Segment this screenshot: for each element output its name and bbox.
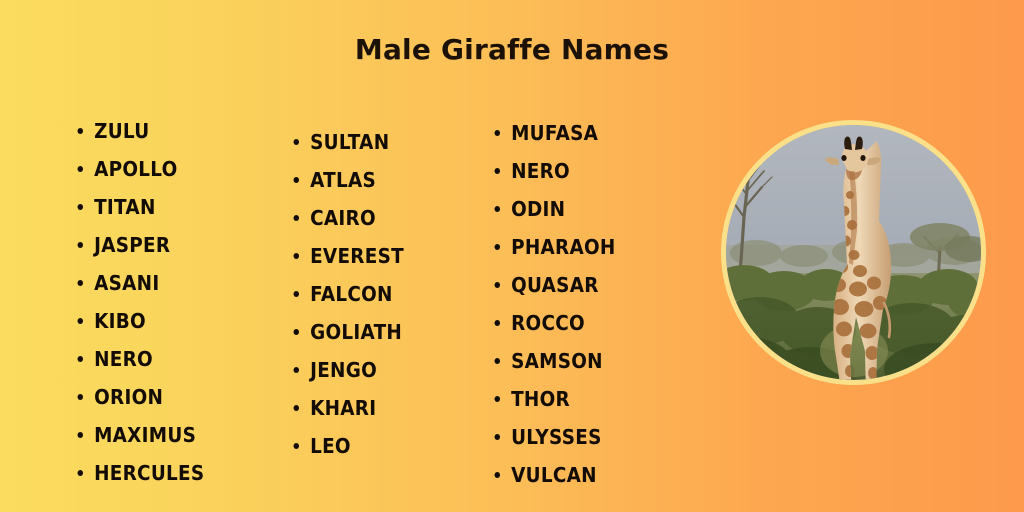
- name-label: QUASAR: [511, 273, 599, 297]
- name-label: ATLAS: [310, 168, 376, 192]
- list-item: ATLAS: [288, 161, 404, 199]
- bullet-icon: [495, 130, 501, 136]
- bullet-icon: [294, 291, 300, 297]
- name-label: KHARI: [310, 396, 376, 420]
- list-item: JASPER: [72, 226, 204, 264]
- name-label: CAIRO: [310, 206, 376, 230]
- name-label: ULYSSES: [511, 425, 602, 449]
- name-label: ASANI: [94, 271, 159, 295]
- name-label: EVEREST: [310, 244, 404, 268]
- list-item: ZULU: [72, 112, 204, 150]
- bullet-icon: [78, 242, 84, 248]
- name-label: GOLIATH: [310, 320, 402, 344]
- giraffe-photo-inner: [726, 125, 981, 380]
- name-label: ORION: [94, 385, 163, 409]
- bullet-icon: [78, 394, 84, 400]
- bullet-icon: [495, 472, 501, 478]
- list-item: ROCCO: [489, 304, 616, 342]
- name-label: THOR: [511, 387, 570, 411]
- list-item: APOLLO: [72, 150, 204, 188]
- list-item: PHARAOH: [489, 228, 616, 266]
- name-label: LEO: [310, 434, 351, 458]
- bullet-icon: [294, 405, 300, 411]
- list-item: ODIN: [489, 190, 616, 228]
- list-item: MUFASA: [489, 114, 616, 152]
- bullet-icon: [78, 204, 84, 210]
- name-label: NERO: [94, 347, 153, 371]
- bullet-icon: [78, 280, 84, 286]
- name-label: SULTAN: [310, 130, 389, 154]
- list-item: QUASAR: [489, 266, 616, 304]
- name-label: ODIN: [511, 197, 565, 221]
- name-column-2: SULTANATLASCAIROEVERESTFALCONGOLIATHJENG…: [288, 123, 414, 465]
- list-item: CAIRO: [288, 199, 404, 237]
- list-item: THOR: [489, 380, 616, 418]
- bullet-icon: [294, 177, 300, 183]
- name-label: ROCCO: [511, 311, 585, 335]
- name-label: ZULU: [94, 119, 149, 143]
- page-title: Male Giraffe Names: [0, 30, 1024, 70]
- name-label: FALCON: [310, 282, 393, 306]
- name-label: HERCULES: [94, 461, 204, 485]
- list-item: ORION: [72, 378, 204, 416]
- bullet-icon: [495, 244, 501, 250]
- list-item: JENGO: [288, 351, 404, 389]
- list-item: FALCON: [288, 275, 404, 313]
- bullet-icon: [78, 470, 84, 476]
- name-label: VULCAN: [511, 463, 597, 487]
- bullet-icon: [495, 282, 501, 288]
- list-item: ASANI: [72, 264, 204, 302]
- list-item: LEO: [288, 427, 404, 465]
- bullet-icon: [78, 432, 84, 438]
- name-column-1: ZULUAPOLLOTITANJASPERASANIKIBONEROORIONM…: [72, 112, 216, 492]
- list-item: NERO: [489, 152, 616, 190]
- giraffe-illustration: [726, 125, 981, 380]
- poster-canvas: Male Giraffe Names ZULUAPOLLOTITANJASPER…: [0, 0, 1024, 512]
- list-item: TITAN: [72, 188, 204, 226]
- bullet-icon: [294, 367, 300, 373]
- name-label: JENGO: [310, 358, 377, 382]
- name-column-3: MUFASANEROODINPHARAOHQUASARROCCOSAMSONTH…: [489, 114, 627, 494]
- name-label: MUFASA: [511, 121, 598, 145]
- bullet-icon: [78, 356, 84, 362]
- bullet-icon: [294, 253, 300, 259]
- bullet-icon: [495, 358, 501, 364]
- list-item: ULYSSES: [489, 418, 616, 456]
- list-item: NERO: [72, 340, 204, 378]
- name-label: MAXIMUS: [94, 423, 196, 447]
- name-label: JASPER: [94, 233, 170, 257]
- list-item: VULCAN: [489, 456, 616, 494]
- bullet-icon: [495, 396, 501, 402]
- list-item: GOLIATH: [288, 313, 404, 351]
- bullet-icon: [294, 139, 300, 145]
- bullet-icon: [294, 329, 300, 335]
- name-label: SAMSON: [511, 349, 603, 373]
- bullet-icon: [495, 206, 501, 212]
- bullet-icon: [78, 318, 84, 324]
- bullet-icon: [78, 128, 84, 134]
- list-item: KHARI: [288, 389, 404, 427]
- name-label: PHARAOH: [511, 235, 616, 259]
- bullet-icon: [495, 434, 501, 440]
- list-item: MAXIMUS: [72, 416, 204, 454]
- list-item: KIBO: [72, 302, 204, 340]
- bullet-icon: [495, 168, 501, 174]
- giraffe-photo: [721, 120, 986, 385]
- list-item: EVEREST: [288, 237, 404, 275]
- name-label: TITAN: [94, 195, 156, 219]
- bullet-icon: [294, 215, 300, 221]
- list-item: SAMSON: [489, 342, 616, 380]
- name-label: NERO: [511, 159, 570, 183]
- bullet-icon: [495, 320, 501, 326]
- name-label: KIBO: [94, 309, 146, 333]
- bullet-icon: [78, 166, 84, 172]
- list-item: SULTAN: [288, 123, 404, 161]
- list-item: HERCULES: [72, 454, 204, 492]
- name-label: APOLLO: [94, 157, 177, 181]
- bullet-icon: [294, 443, 300, 449]
